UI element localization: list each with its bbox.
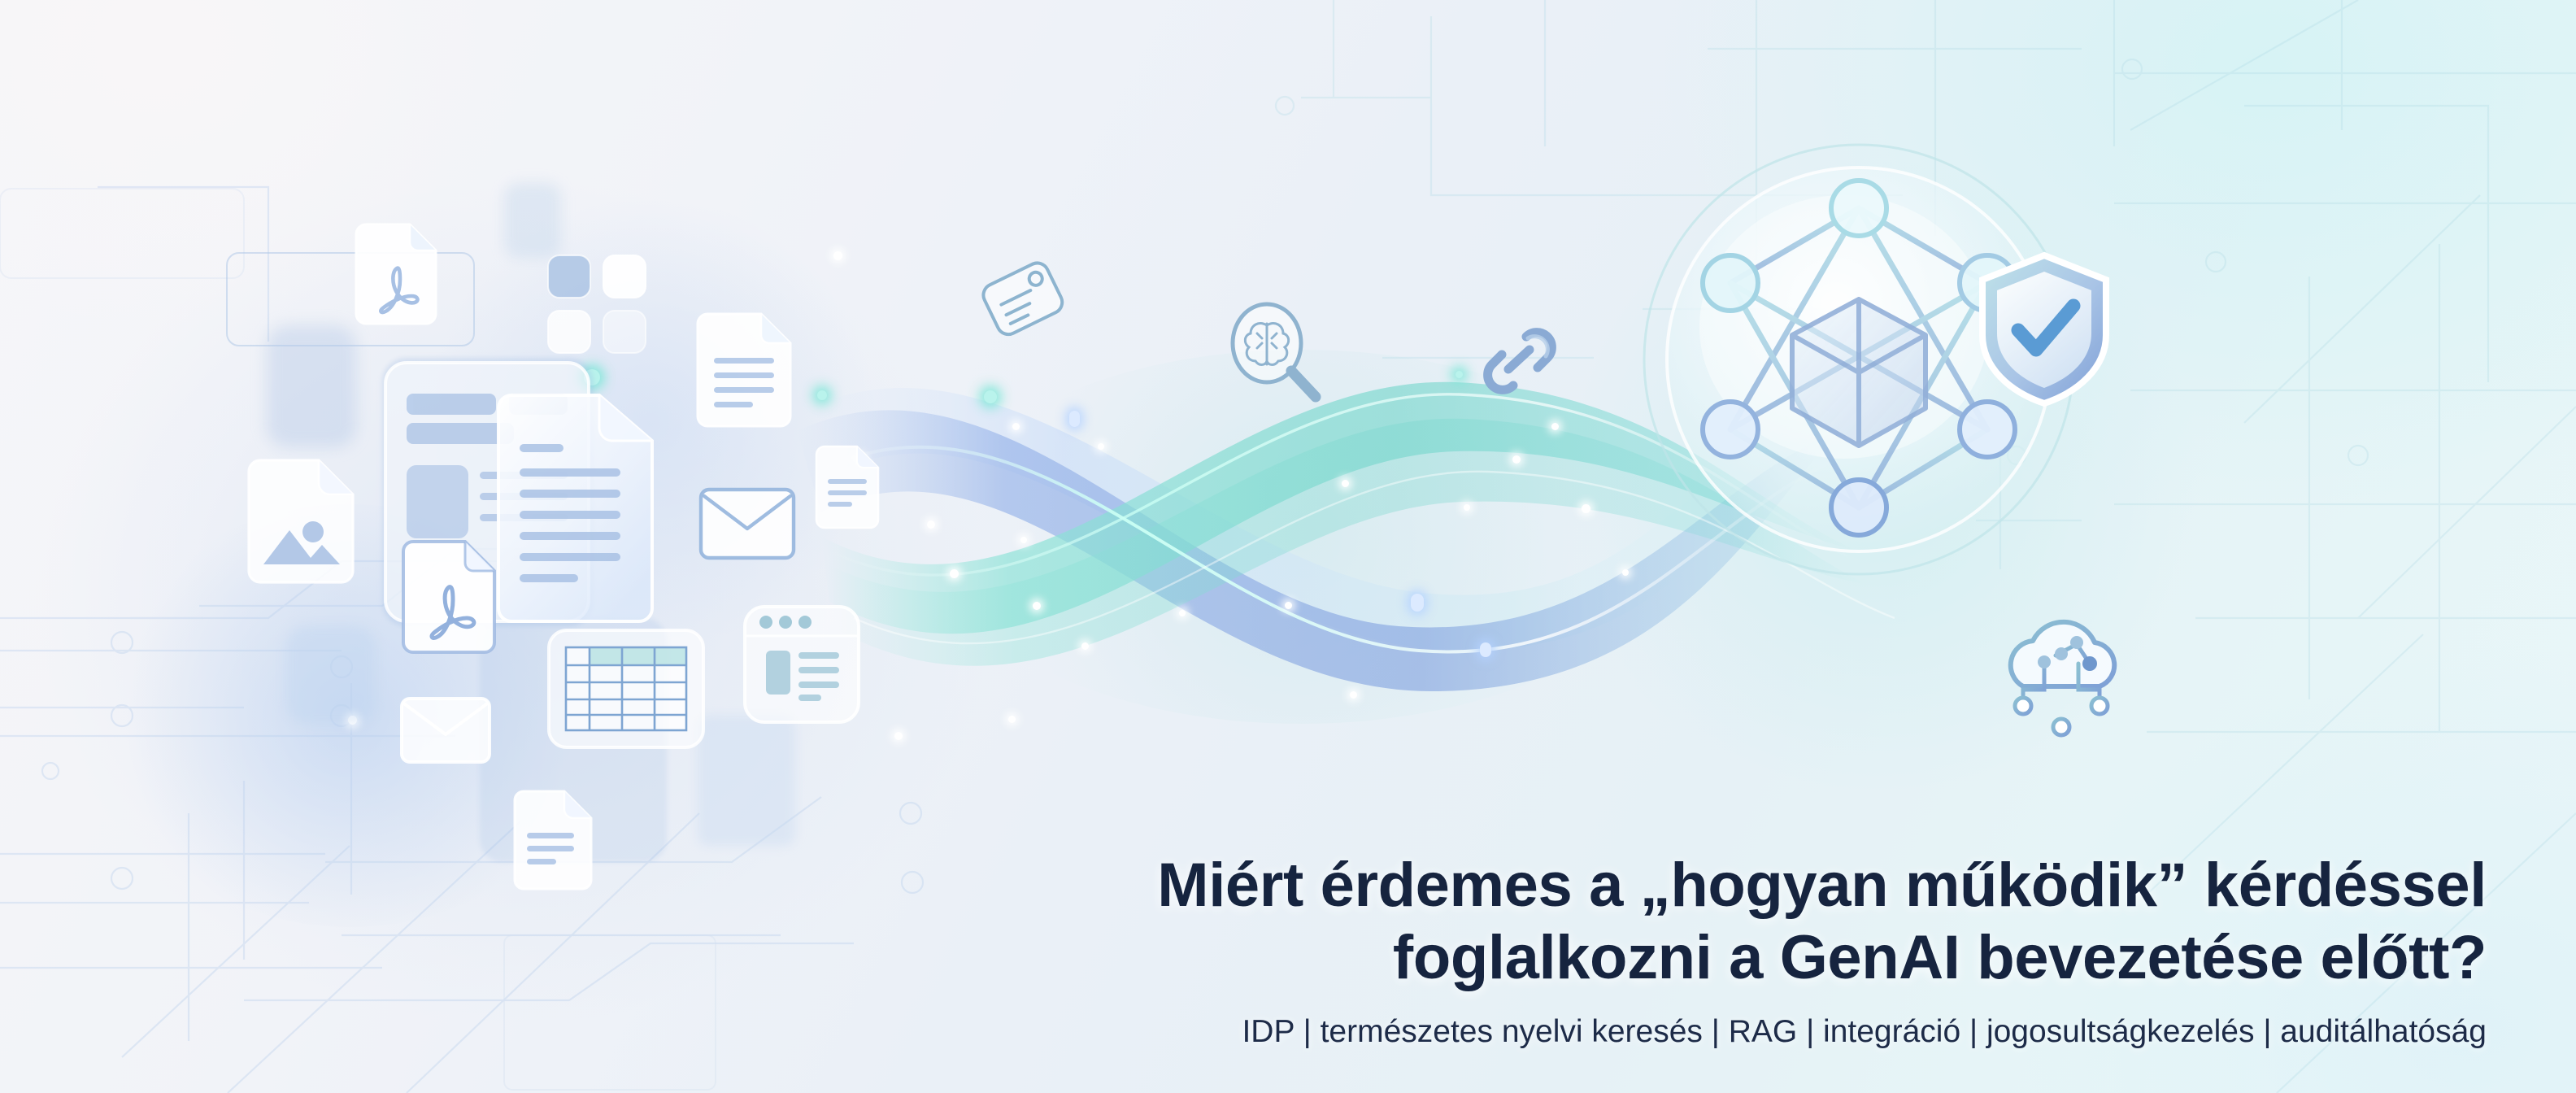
browser-window-icon [742,603,862,729]
sparkle-particle [1081,642,1089,650]
text-document-icon [693,309,795,435]
sparkle-particle [1020,537,1027,543]
pdf-file-icon [351,221,439,331]
sparkle-particle [1098,443,1104,450]
sparkle-particle [1285,602,1292,609]
sparkle-particle [1033,602,1041,610]
page-title-line-2: foglalkozni a GenAI bevezetése előtt? [1157,922,2487,995]
sparkle-particle [817,390,827,400]
sparkle-particle [1480,642,1491,657]
ghost-card [286,626,376,724]
sparkle-particle [833,251,842,260]
sparkle-particle [984,390,997,403]
sparkle-particle [950,569,959,578]
link-chain-icon [1476,319,1564,407]
sparkle-particle [1456,371,1463,378]
sparkle-particle [1464,504,1470,511]
page-title-line-1: Miért érdemes a „hogyan működik” kérdéss… [1157,850,2487,922]
sparkle-particle [1179,610,1186,616]
text-document-icon [492,390,659,630]
sparkle-particle [1342,480,1349,487]
sparkle-particle [1012,423,1020,430]
sparkle-particle [1551,423,1559,430]
text-document-icon [511,787,595,897]
sparkle-particle [1350,691,1357,699]
hero-banner: Miért érdemes a „hogyan működik” kérdéss… [0,0,2576,1093]
text-document-icon [813,443,881,535]
spreadsheet-table-icon [546,628,706,754]
ghost-card [698,716,795,846]
pdf-file-icon [398,537,499,661]
sparkle-particle [1069,411,1080,427]
sparkle-particle [1008,716,1016,723]
ghost-card [504,183,561,258]
brain-search-icon [1220,301,1334,419]
title-block: Miért érdemes a „hogyan működik” kérdéss… [1157,850,2487,1052]
sparkle-particle [1411,594,1424,612]
image-file-icon [244,455,358,591]
email-envelope-icon [698,486,797,565]
sparkle-particle [1622,569,1629,576]
subtitle-keywords: IDP | természetes nyelvi keresés | RAG |… [1157,1012,2487,1052]
sparkle-particle [894,732,903,740]
sparkle-particle [1582,504,1590,513]
app-grid-icon [546,254,652,364]
sparkle-particle [1512,455,1521,464]
sparkle-particle [927,520,935,529]
shield-check-icon [1971,249,2117,412]
cloud-connect-icon [1986,615,2142,756]
email-envelope-icon [398,695,493,769]
tag-label-icon [976,259,1073,354]
